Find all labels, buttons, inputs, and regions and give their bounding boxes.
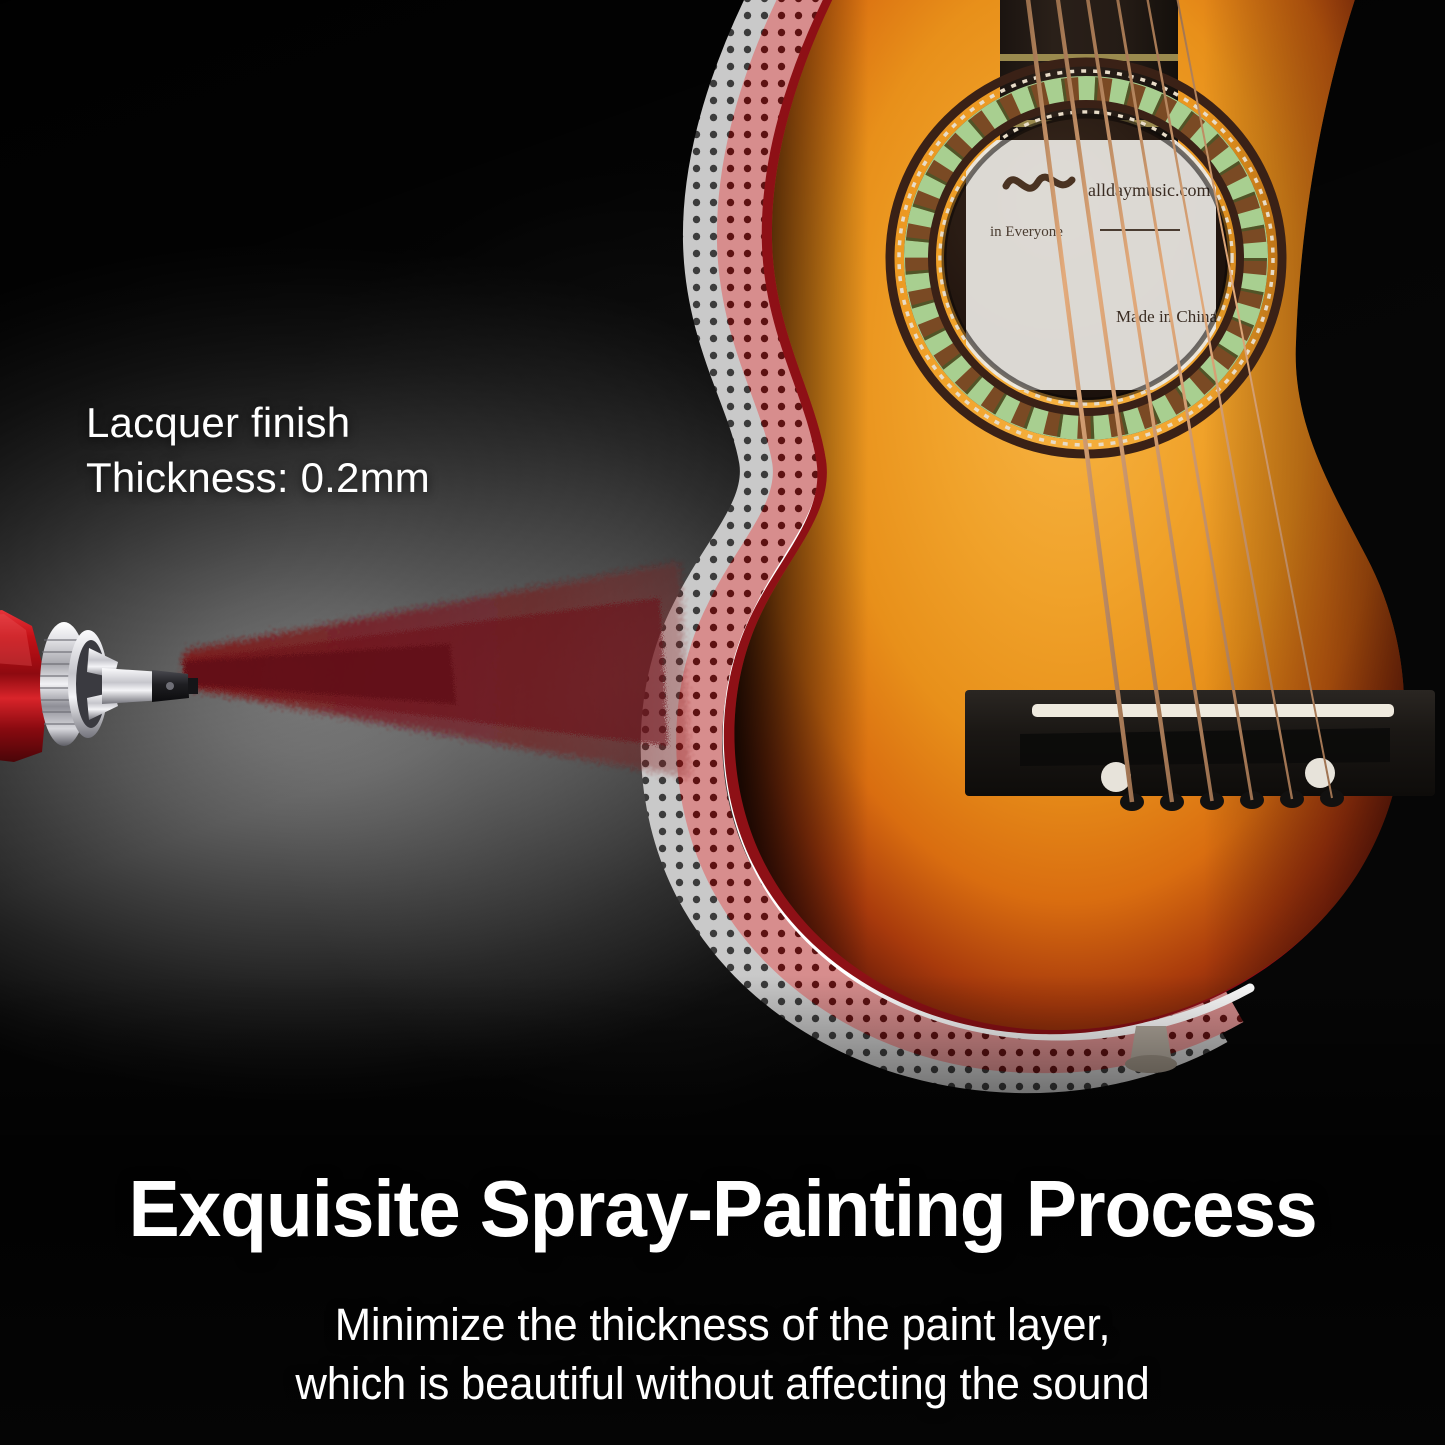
spray-gun bbox=[0, 566, 222, 766]
gun-nozzle-orifice bbox=[166, 682, 174, 690]
product-marketing-image: alldaymusic.com in Everyone Made in Chin… bbox=[0, 0, 1445, 1445]
soundhole-assembly: alldaymusic.com in Everyone Made in Chin… bbox=[890, 62, 1282, 454]
subtitle: Minimize the thickness of the paint laye… bbox=[22, 1296, 1424, 1413]
guitar-bridge bbox=[965, 690, 1435, 811]
gun-nozzle-outlet bbox=[188, 678, 198, 694]
bridge-dot-inlay bbox=[1305, 758, 1335, 788]
label-origin-text: Made in China bbox=[1116, 307, 1217, 326]
bridge-saddle bbox=[1032, 704, 1394, 717]
headline: Exquisite Spray-Painting Process bbox=[29, 1163, 1416, 1255]
lacquer-callout-text: Lacquer finish Thickness: 0.2mm bbox=[86, 396, 430, 505]
label-tagline-text: in Everyone bbox=[990, 224, 1063, 240]
